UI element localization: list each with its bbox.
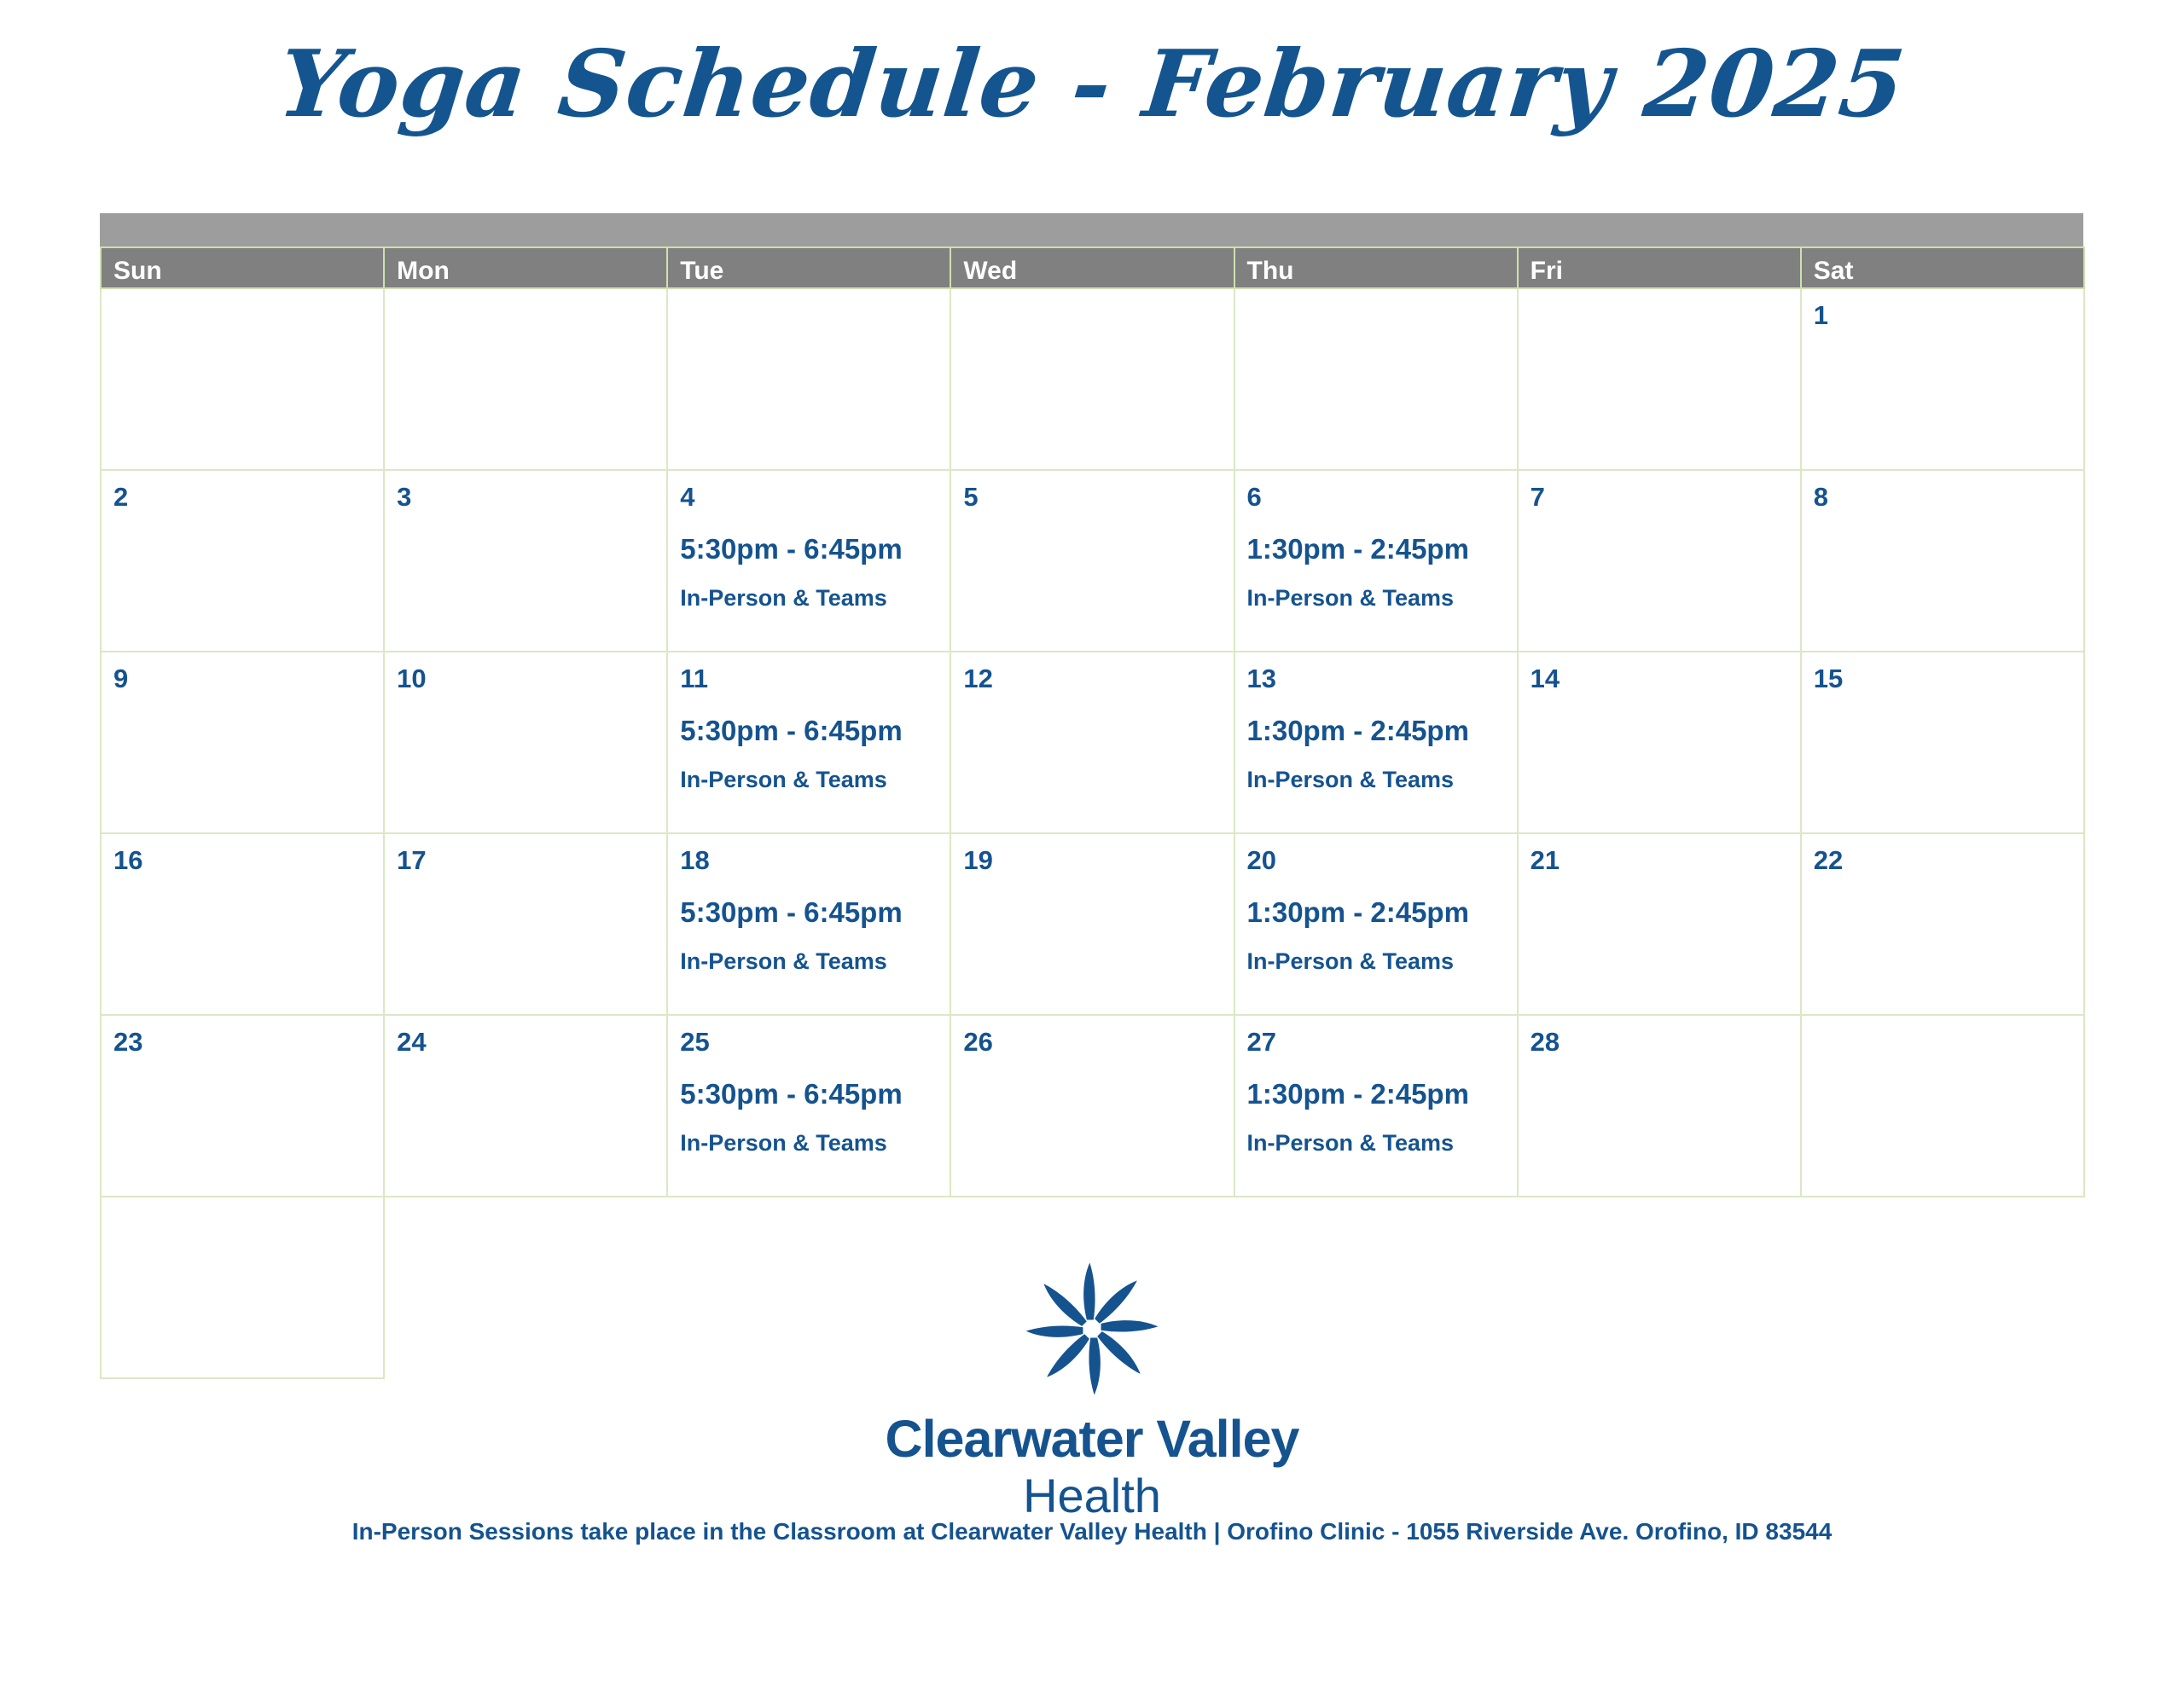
calendar-week-row: 2324255:30pm - 6:45pmIn-Person & Teams26…	[101, 1015, 2084, 1197]
session-mode: In-Person & Teams	[1247, 1128, 1517, 1157]
calendar-day-cell-mon[interactable]: 10	[384, 652, 667, 833]
day-number: 25	[680, 1026, 950, 1058]
session-mode: In-Person & Teams	[1247, 947, 1517, 976]
calendar-day-cell-fri[interactable]: 14	[1518, 652, 1801, 833]
calendar-day-cell-fri[interactable]	[1518, 288, 1801, 470]
session-mode: In-Person & Teams	[1247, 583, 1517, 612]
day-number: 5	[963, 481, 1233, 513]
session-time: 1:30pm - 2:45pm	[1247, 714, 1517, 748]
calendar-day-cell-thu[interactable]: 61:30pm - 2:45pmIn-Person & Teams	[1234, 470, 1518, 652]
calendar-top-band	[100, 213, 2083, 246]
day-number: 16	[113, 844, 383, 877]
weekday-header-tue: Tue	[667, 247, 950, 288]
day-number: 26	[963, 1026, 1233, 1058]
calendar-day-cell-mon[interactable]	[384, 288, 667, 470]
day-number: 14	[1531, 663, 1800, 695]
session-time: 1:30pm - 2:45pm	[1247, 1077, 1517, 1111]
weekday-header-row: Sun Mon Tue Wed Thu Fri Sat	[101, 247, 2084, 288]
calendar-day-cell-thu[interactable]: 201:30pm - 2:45pmIn-Person & Teams	[1234, 833, 1518, 1015]
session-time: 5:30pm - 6:45pm	[680, 532, 950, 566]
calendar-day-cell-thu[interactable]: 271:30pm - 2:45pmIn-Person & Teams	[1234, 1015, 1518, 1197]
day-number: 1	[1814, 299, 2083, 332]
calendar-day-cell-tue[interactable]: 45:30pm - 6:45pmIn-Person & Teams	[667, 470, 950, 652]
day-number: 4	[680, 481, 950, 513]
calendar-day-cell-tue[interactable]	[667, 288, 950, 470]
day-number: 8	[1814, 481, 2083, 513]
calendar-day-cell-fri[interactable]: 7	[1518, 470, 1801, 652]
day-number: 3	[397, 481, 666, 513]
calendar-day-cell-tue[interactable]: 255:30pm - 6:45pmIn-Person & Teams	[667, 1015, 950, 1197]
session-mode: In-Person & Teams	[680, 1128, 950, 1157]
logo-name-secondary: Health	[0, 1469, 2184, 1523]
calendar-week-row: 2345:30pm - 6:45pmIn-Person & Teams561:3…	[101, 470, 2084, 652]
calendar-day-cell-mon[interactable]: 3	[384, 470, 667, 652]
calendar-day-cell-wed[interactable]: 12	[950, 652, 1234, 833]
calendar-week-row: 1617185:30pm - 6:45pmIn-Person & Teams19…	[101, 833, 2084, 1015]
day-number: 13	[1247, 663, 1517, 695]
day-number: 21	[1531, 844, 1800, 877]
day-number: 20	[1247, 844, 1517, 877]
calendar-day-cell-fri[interactable]: 28	[1518, 1015, 1801, 1197]
calendar-week-row: 1	[101, 288, 2084, 470]
calendar-day-cell-wed[interactable]: 26	[950, 1015, 1234, 1197]
session-time: 1:30pm - 2:45pm	[1247, 532, 1517, 566]
session-time: 5:30pm - 6:45pm	[680, 1077, 950, 1111]
day-number: 22	[1814, 844, 2083, 877]
session-time: 5:30pm - 6:45pm	[680, 714, 950, 748]
calendar-day-cell-wed[interactable]: 19	[950, 833, 1234, 1015]
day-number: 27	[1247, 1026, 1517, 1058]
weekday-header-sun: Sun	[101, 247, 384, 288]
session-time: 1:30pm - 2:45pm	[1247, 896, 1517, 930]
day-number: 18	[680, 844, 950, 877]
calendar-day-cell-sat[interactable]: 22	[1801, 833, 2084, 1015]
calendar-table: Sun Mon Tue Wed Thu Fri Sat 12345:30pm -…	[100, 246, 2085, 1379]
day-number: 28	[1531, 1026, 1800, 1058]
calendar-week-row: 910115:30pm - 6:45pmIn-Person & Teams121…	[101, 652, 2084, 833]
calendar-day-cell-wed[interactable]: 5	[950, 470, 1234, 652]
day-number: 11	[680, 663, 950, 695]
weekday-header-sat: Sat	[1801, 247, 2084, 288]
calendar-grid: Sun Mon Tue Wed Thu Fri Sat 12345:30pm -…	[100, 213, 2083, 1379]
calendar-day-cell-thu[interactable]	[1234, 288, 1518, 470]
day-number: 17	[397, 844, 666, 877]
calendar-day-cell-sun[interactable]: 16	[101, 833, 384, 1015]
session-mode: In-Person & Teams	[680, 947, 950, 976]
calendar-day-cell-sun[interactable]: 23	[101, 1015, 384, 1197]
session-time: 5:30pm - 6:45pm	[680, 896, 950, 930]
calendar-day-cell-sun[interactable]: 9	[101, 652, 384, 833]
calendar-day-cell-thu[interactable]: 131:30pm - 2:45pmIn-Person & Teams	[1234, 652, 1518, 833]
day-number: 23	[113, 1026, 383, 1058]
weekday-header-wed: Wed	[950, 247, 1234, 288]
weekday-header-thu: Thu	[1234, 247, 1518, 288]
calendar-day-cell-wed[interactable]	[950, 288, 1234, 470]
calendar-day-cell-sat[interactable]: 1	[1801, 288, 2084, 470]
weekday-header-fri: Fri	[1518, 247, 1801, 288]
day-number: 2	[113, 481, 383, 513]
logo-name-primary: Clearwater Valley	[0, 1409, 2184, 1469]
calendar-day-cell-fri[interactable]: 21	[1518, 833, 1801, 1015]
calendar-day-cell-sun[interactable]	[101, 288, 384, 470]
organization-logo: Clearwater Valley Health	[0, 1254, 2184, 1523]
calendar-day-cell-sat[interactable]	[1801, 1015, 2084, 1197]
session-mode: In-Person & Teams	[680, 765, 950, 794]
day-number: 10	[397, 663, 666, 695]
day-number: 6	[1247, 481, 1517, 513]
day-number: 19	[963, 844, 1233, 877]
calendar-day-cell-sat[interactable]: 15	[1801, 652, 2084, 833]
calendar-day-cell-mon[interactable]: 17	[384, 833, 667, 1015]
location-note: In-Person Sessions take place in the Cla…	[0, 1516, 2184, 1547]
calendar-day-cell-sun[interactable]: 2	[101, 470, 384, 652]
flower-petal-logo-icon	[1015, 1254, 1169, 1404]
page-title: Yoga Schedule - February 2025	[0, 29, 2184, 140]
session-mode: In-Person & Teams	[1247, 765, 1517, 794]
calendar-body: 12345:30pm - 6:45pmIn-Person & Teams561:…	[101, 288, 2084, 1378]
calendar-day-cell-sat[interactable]: 8	[1801, 470, 2084, 652]
day-number: 7	[1531, 481, 1800, 513]
day-number: 9	[113, 663, 383, 695]
day-number: 12	[963, 663, 1233, 695]
session-mode: In-Person & Teams	[680, 583, 950, 612]
calendar-day-cell-mon[interactable]: 24	[384, 1015, 667, 1197]
calendar-day-cell-tue[interactable]: 115:30pm - 6:45pmIn-Person & Teams	[667, 652, 950, 833]
day-number: 15	[1814, 663, 2083, 695]
day-number: 24	[397, 1026, 666, 1058]
weekday-header-mon: Mon	[384, 247, 667, 288]
calendar-day-cell-tue[interactable]: 185:30pm - 6:45pmIn-Person & Teams	[667, 833, 950, 1015]
